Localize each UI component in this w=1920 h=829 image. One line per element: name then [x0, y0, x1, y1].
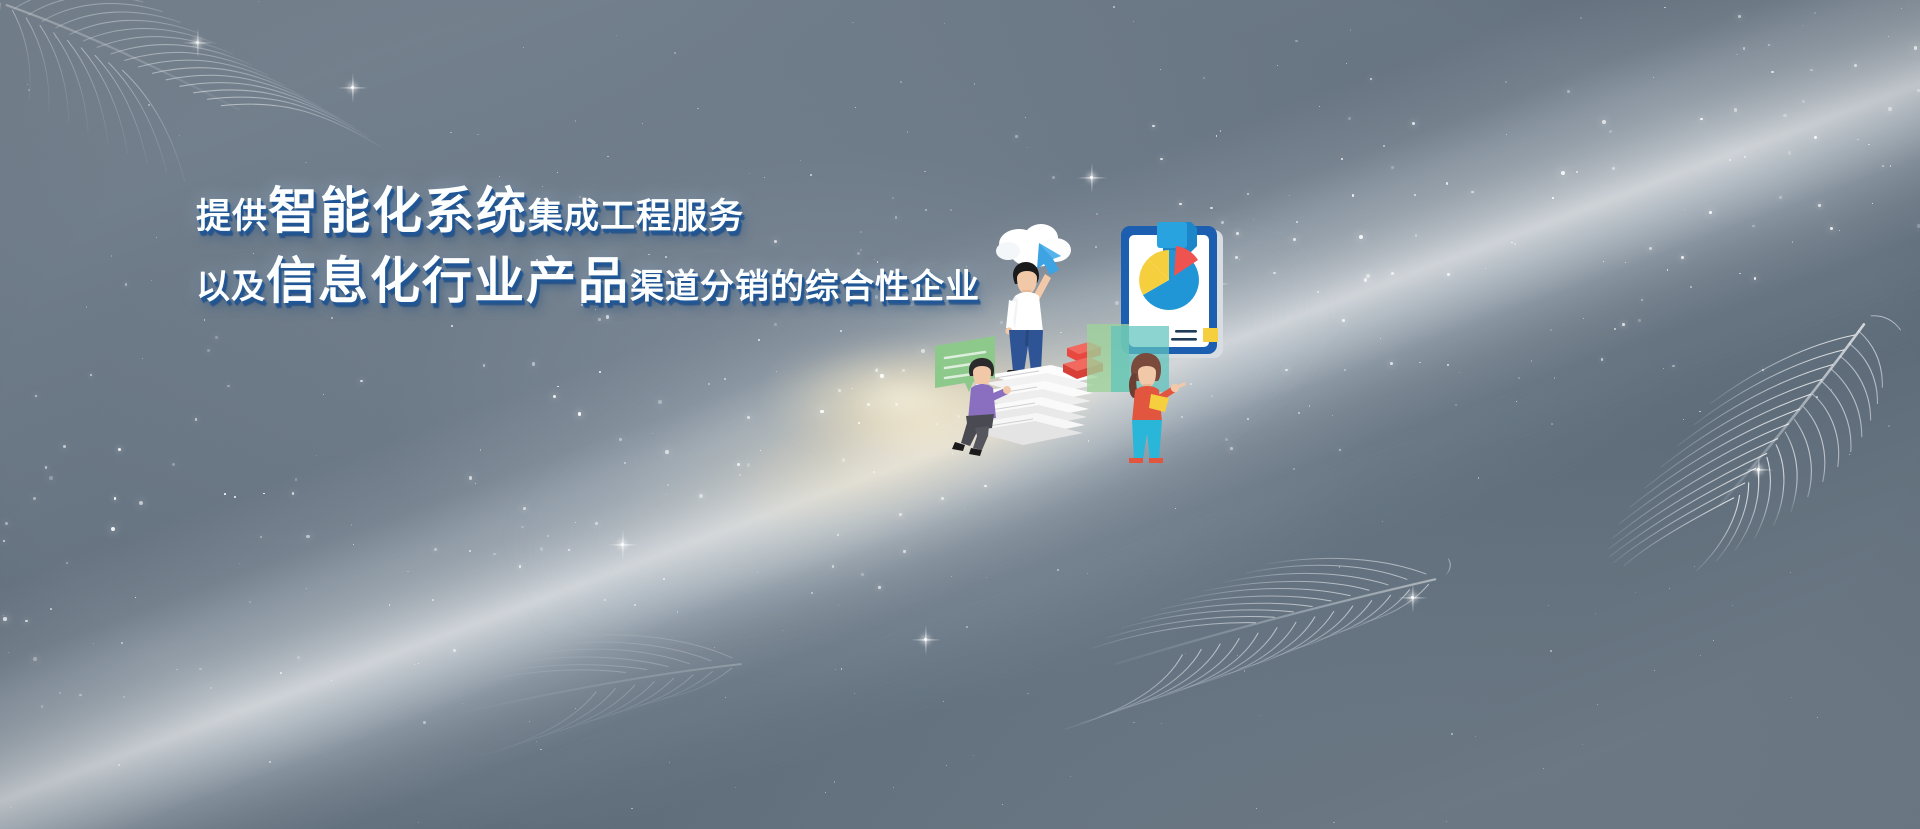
headline-line1-segment-3: 集成工程服务: [528, 200, 744, 235]
headline-block: 提供智能化系统集成工程服务 以及信息化行业产品渠道分销的综合性企业: [196, 186, 1096, 306]
headline-line-1: 提供智能化系统集成工程服务: [196, 186, 1096, 236]
headline-line2-segment-2: 信息化行业产品: [266, 256, 630, 306]
headline-line1-segment-1: 提供: [196, 200, 268, 235]
headline-line1-segment-2: 智能化系统: [268, 186, 528, 236]
headline-line2-segment-3: 渠道分销的综合性企业: [630, 270, 980, 304]
presenting-woman-figure: [1129, 353, 1186, 463]
headline-line2-segment-1: 以及: [196, 270, 266, 304]
hero-banner: 提供智能化系统集成工程服务 以及信息化行业产品渠道分销的综合性企业: [0, 0, 1920, 829]
headline-line-2: 以及信息化行业产品渠道分销的综合性企业: [196, 256, 1096, 306]
